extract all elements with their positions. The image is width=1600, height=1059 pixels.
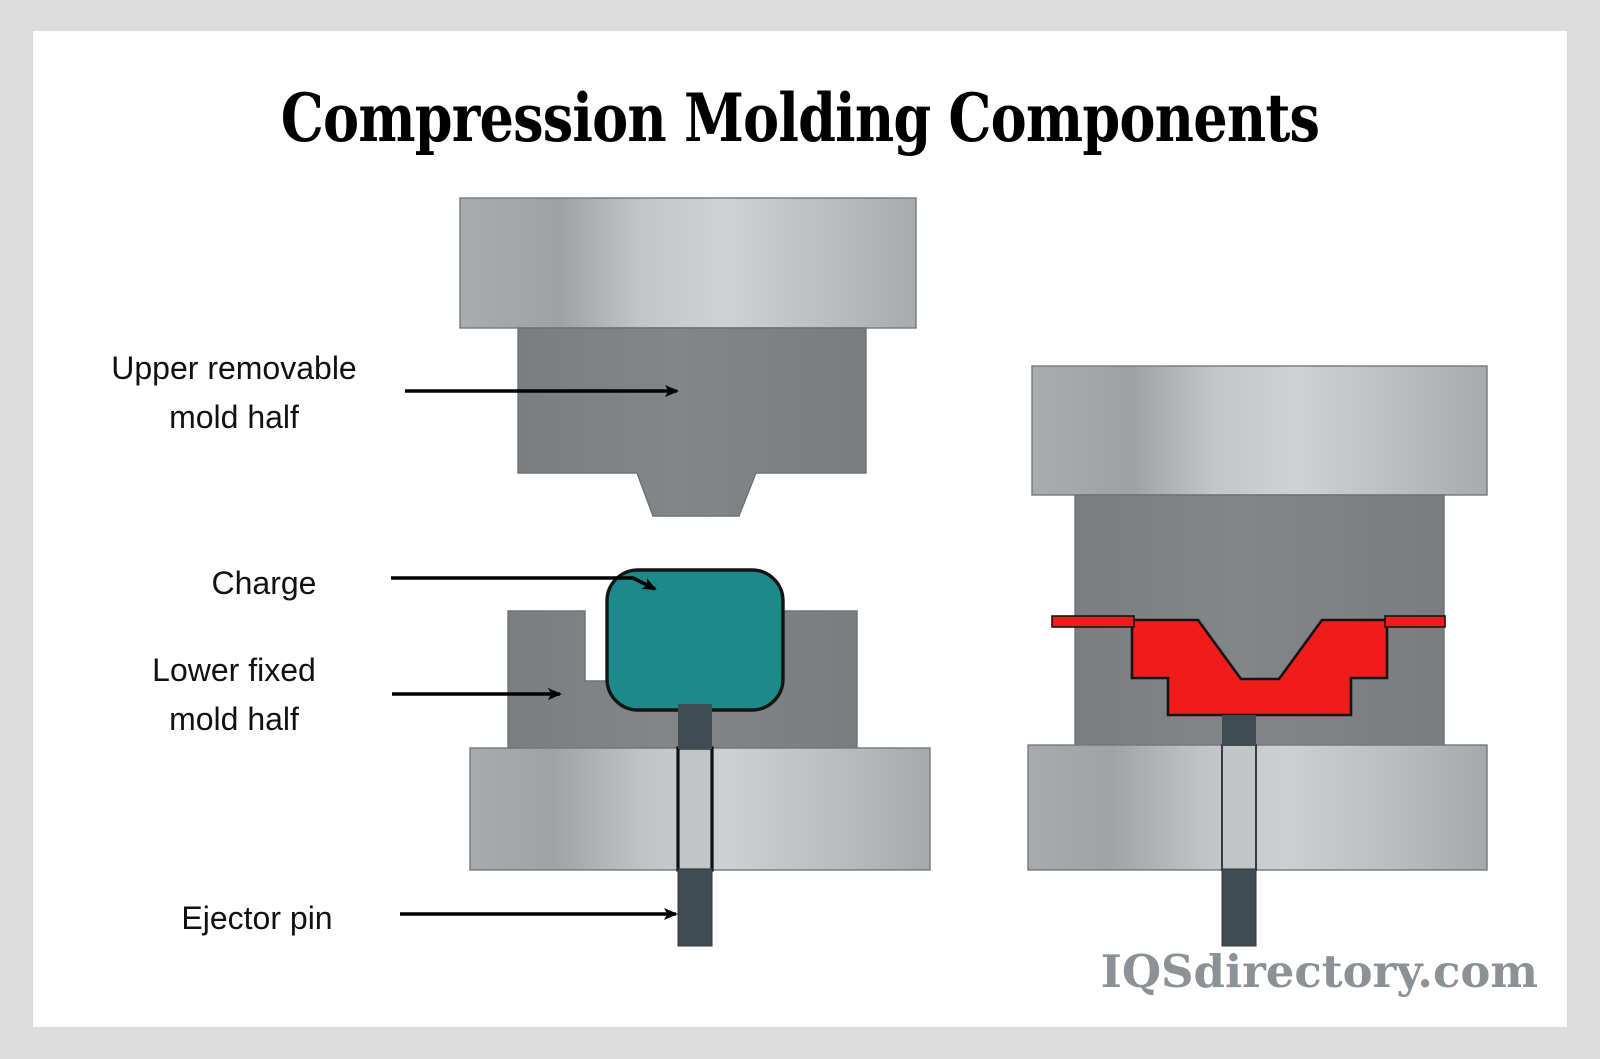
left-upper-mold-core <box>518 328 866 516</box>
left-ejector-pin-channel <box>678 748 712 870</box>
label-charge: Charge <box>151 559 377 608</box>
right-closed-mold <box>1028 366 1487 946</box>
left-charge <box>607 570 783 710</box>
label-upper-removable-mold-half: Upper removable mold half <box>61 344 407 441</box>
left-ejector-pin-head <box>678 704 712 749</box>
right-ejector-pin-shaft <box>1222 869 1256 946</box>
right-lower-backing-plate <box>1028 745 1487 870</box>
diagram-svg <box>33 31 1567 1027</box>
label-lower-fixed-mold-half: Lower fixed mold half <box>93 646 375 743</box>
poster-frame: Compression Molding Components <box>0 0 1600 1059</box>
left-lower-mold-half <box>470 570 930 946</box>
label-ejector-pin: Ejector pin <box>141 894 373 943</box>
right-flash-right <box>1385 616 1445 627</box>
right-upper-backing-plate <box>1032 366 1487 495</box>
right-ejector-pin-head <box>1222 715 1256 746</box>
left-upper-mold-half <box>460 198 916 516</box>
left-upper-backing-plate <box>460 198 916 328</box>
right-ejector-pin-channel <box>1222 745 1256 870</box>
right-flash-left <box>1052 616 1134 627</box>
diagram-canvas: Compression Molding Components <box>33 31 1567 1027</box>
watermark-iqsdirectory: IQSdirectory.com <box>1018 945 1538 998</box>
left-ejector-pin-shaft <box>678 869 712 946</box>
